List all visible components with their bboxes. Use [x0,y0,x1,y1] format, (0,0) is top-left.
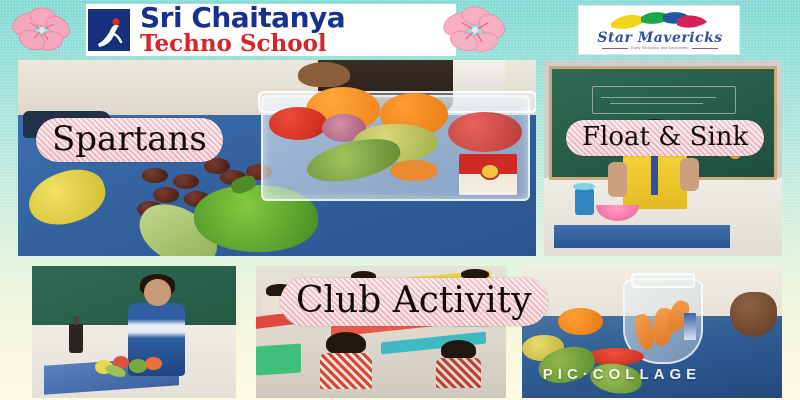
school-name: Sri Chaitanya Techno School [140,3,456,56]
photo-jar-with-carrots[interactable]: PIC·COLLAGE [522,266,782,398]
photo-collage: PIC·COLLAGE Spartans Float & Sink Club A… [18,60,782,398]
runner-figure-icon [94,17,128,51]
student-arm [680,158,699,191]
container-label [459,154,517,195]
caption-spartans: Spartans [36,118,223,162]
student-face [144,279,171,305]
school-branding: Sri Chaitanya Techno School [86,4,456,56]
fruit-arrangement [93,353,175,377]
jar-label [684,313,696,341]
classroom-chair [256,344,301,376]
student [326,332,366,387]
student [441,340,476,388]
photo-student-with-fruits[interactable] [32,266,236,398]
star-mavericks-title: Star Mavericks [579,31,741,46]
green-mango [303,133,404,189]
person-hand [298,62,350,87]
chalk-drawing [592,86,736,114]
school-name-line2: Techno School [140,32,456,56]
student-lanyard [651,152,658,195]
page-header: Sri Chaitanya Techno School [0,0,800,60]
person-hand [730,292,777,337]
blue-desk [554,225,730,249]
jar-neck [631,273,695,289]
star-mavericks-tagline: Early Education and Enrichment [579,46,741,50]
orange-fruit [558,308,602,334]
photo-float-and-sink-demo[interactable] [544,60,782,256]
red-lid [587,348,644,365]
sri-chaitanya-logo-icon [86,7,132,53]
star-mavericks-logo: Star Mavericks Early Education and Enric… [578,5,740,55]
blue-container [575,189,594,214]
caption-float-and-sink: Float & Sink [566,120,764,156]
school-name-line1: Sri Chaitanya [140,4,456,32]
dark-bottle [69,324,83,353]
date-fruit [153,187,179,203]
plastic-container [261,95,529,201]
apple [448,112,522,153]
carrot [390,160,438,180]
caption-club-activity: Club Activity [280,278,548,326]
pic-collage-watermark: PIC·COLLAGE [543,366,701,383]
tomato [269,107,327,140]
hibiscus-flower-icon [10,6,76,56]
student-arm [608,162,627,197]
